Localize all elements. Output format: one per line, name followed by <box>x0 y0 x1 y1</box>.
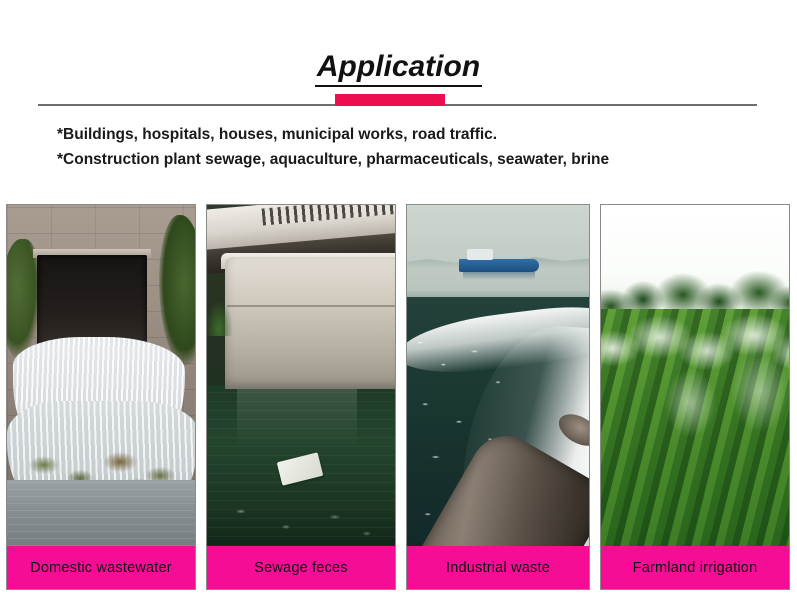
water-reflection-shape <box>237 387 357 447</box>
panel-industrial-waste: Industrial waste <box>406 204 590 590</box>
page-title: Application <box>0 50 797 84</box>
bank-grass-shape <box>207 300 233 336</box>
caption-sewage-feces: Sewage feces <box>207 546 395 589</box>
bullet-item-1: *Buildings, hospitals, houses, municipal… <box>57 122 757 147</box>
bridge-pier-shape <box>225 257 395 389</box>
bullet-list: *Buildings, hospitals, houses, municipal… <box>57 122 757 172</box>
panel-sewage-feces: Sewage feces <box>206 204 396 590</box>
water-debris-shape <box>207 495 395 546</box>
panel-domestic-wastewater: Domestic wastewater <box>6 204 196 590</box>
caption-industrial-waste: Industrial waste <box>407 546 589 589</box>
photo-farmland-irrigation <box>601 205 789 546</box>
boat-cabin-shape <box>467 249 493 260</box>
boat-reflection-shape <box>463 272 535 280</box>
boat-hull-shape <box>459 259 539 272</box>
photo-industrial-waste <box>407 205 589 546</box>
accent-bar <box>335 94 445 106</box>
bullet-item-2: *Construction plant sewage, aquaculture,… <box>57 147 757 172</box>
water-pool-shape <box>7 480 195 546</box>
photo-domestic-wastewater <box>7 205 195 546</box>
pier-seam-shape <box>227 305 395 307</box>
panel-farmland-irrigation: Farmland irrigation <box>600 204 790 590</box>
caption-domestic-wastewater: Domestic wastewater <box>7 546 195 589</box>
image-panel-row: Domestic wastewater Sewage feces <box>0 204 797 590</box>
page-title-text: Application <box>315 50 482 87</box>
sprinkler-mist-shape <box>641 355 789 475</box>
caption-farmland-irrigation: Farmland irrigation <box>601 546 789 589</box>
photo-sewage-feces <box>207 205 395 546</box>
sky-shape <box>407 205 589 297</box>
